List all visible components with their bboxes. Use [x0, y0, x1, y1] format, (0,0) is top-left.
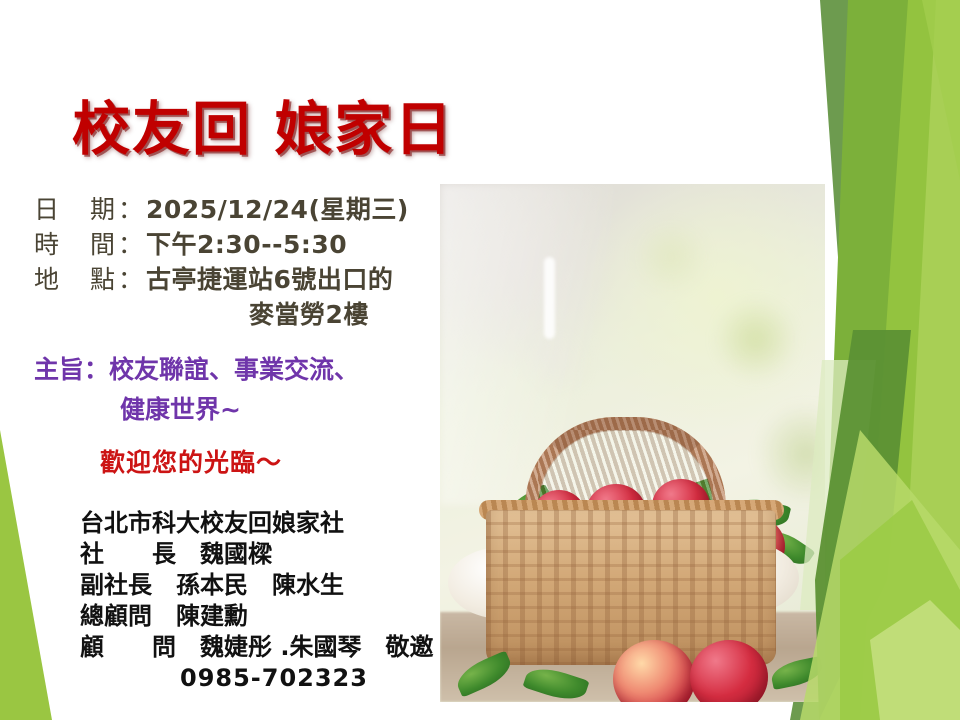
decor-green-facet-pale [880, 0, 960, 720]
event-info-block: 日 期：2025/12/24(星期三) 時 間：下午2:30--5:30 地 點… [34, 192, 409, 332]
decor-green-facet-mid [820, 0, 960, 720]
signature-chairman: 社 長 魏國樑 [80, 539, 433, 570]
apple-basket-photo [440, 184, 825, 702]
signature-block: 台北市科大校友回娘家社 社 長 魏國樑 副社長 孫本民 陳水生 總顧問 陳建勳 … [80, 508, 433, 694]
info-row-time: 時 間：下午2:30--5:30 [34, 227, 409, 262]
info-row-date: 日 期：2025/12/24(星期三) [34, 192, 409, 227]
purpose-line-2: 健康世界~ [34, 390, 359, 430]
signature-organization: 台北市科大校友回娘家社 [80, 508, 433, 539]
info-value-location-continued: 麥當勞2樓 [34, 297, 409, 332]
purpose-line-1: 主旨：校友聯誼、事業交流、 [34, 355, 359, 384]
info-label-time: 時 間： [34, 230, 146, 259]
decor-green-facet-lower-c [870, 600, 960, 720]
signature-vice-chairman: 副社長 孫本民 陳水生 [80, 570, 433, 601]
signature-advisors: 顧 問 魏婕彤 .朱國琴 敬邀 [80, 632, 433, 663]
photo-white-tag [544, 257, 555, 339]
info-value-location: 古亭捷運站6號出口的 [146, 265, 393, 294]
decor-green-facet-top-sliver [900, 0, 960, 180]
info-row-location: 地 點：古亭捷運站6號出口的 [34, 262, 409, 297]
purpose-block: 主旨：校友聯誼、事業交流、 健康世界~ [34, 350, 359, 430]
page-title: 校友回 娘家日 [72, 82, 454, 166]
info-value-date: 2025/12/24(星期三) [146, 195, 409, 224]
decor-green-facet-deep [815, 330, 935, 720]
info-value-time: 下午2:30--5:30 [146, 230, 347, 259]
info-label-location: 地 點： [34, 265, 146, 294]
welcome-message: 歡迎您的光臨～ [100, 443, 282, 479]
info-label-date: 日 期： [34, 195, 146, 224]
signature-phone: 0985-702323 [80, 663, 433, 694]
slide-canvas: 校友回 娘家日 日 期：2025/12/24(星期三) 時 間：下午2:30--… [0, 0, 960, 720]
decor-green-facet-light [860, 0, 960, 720]
signature-chief-advisor: 總顧問 陳建勳 [80, 601, 433, 632]
decor-green-facet-lower-b [840, 500, 960, 720]
